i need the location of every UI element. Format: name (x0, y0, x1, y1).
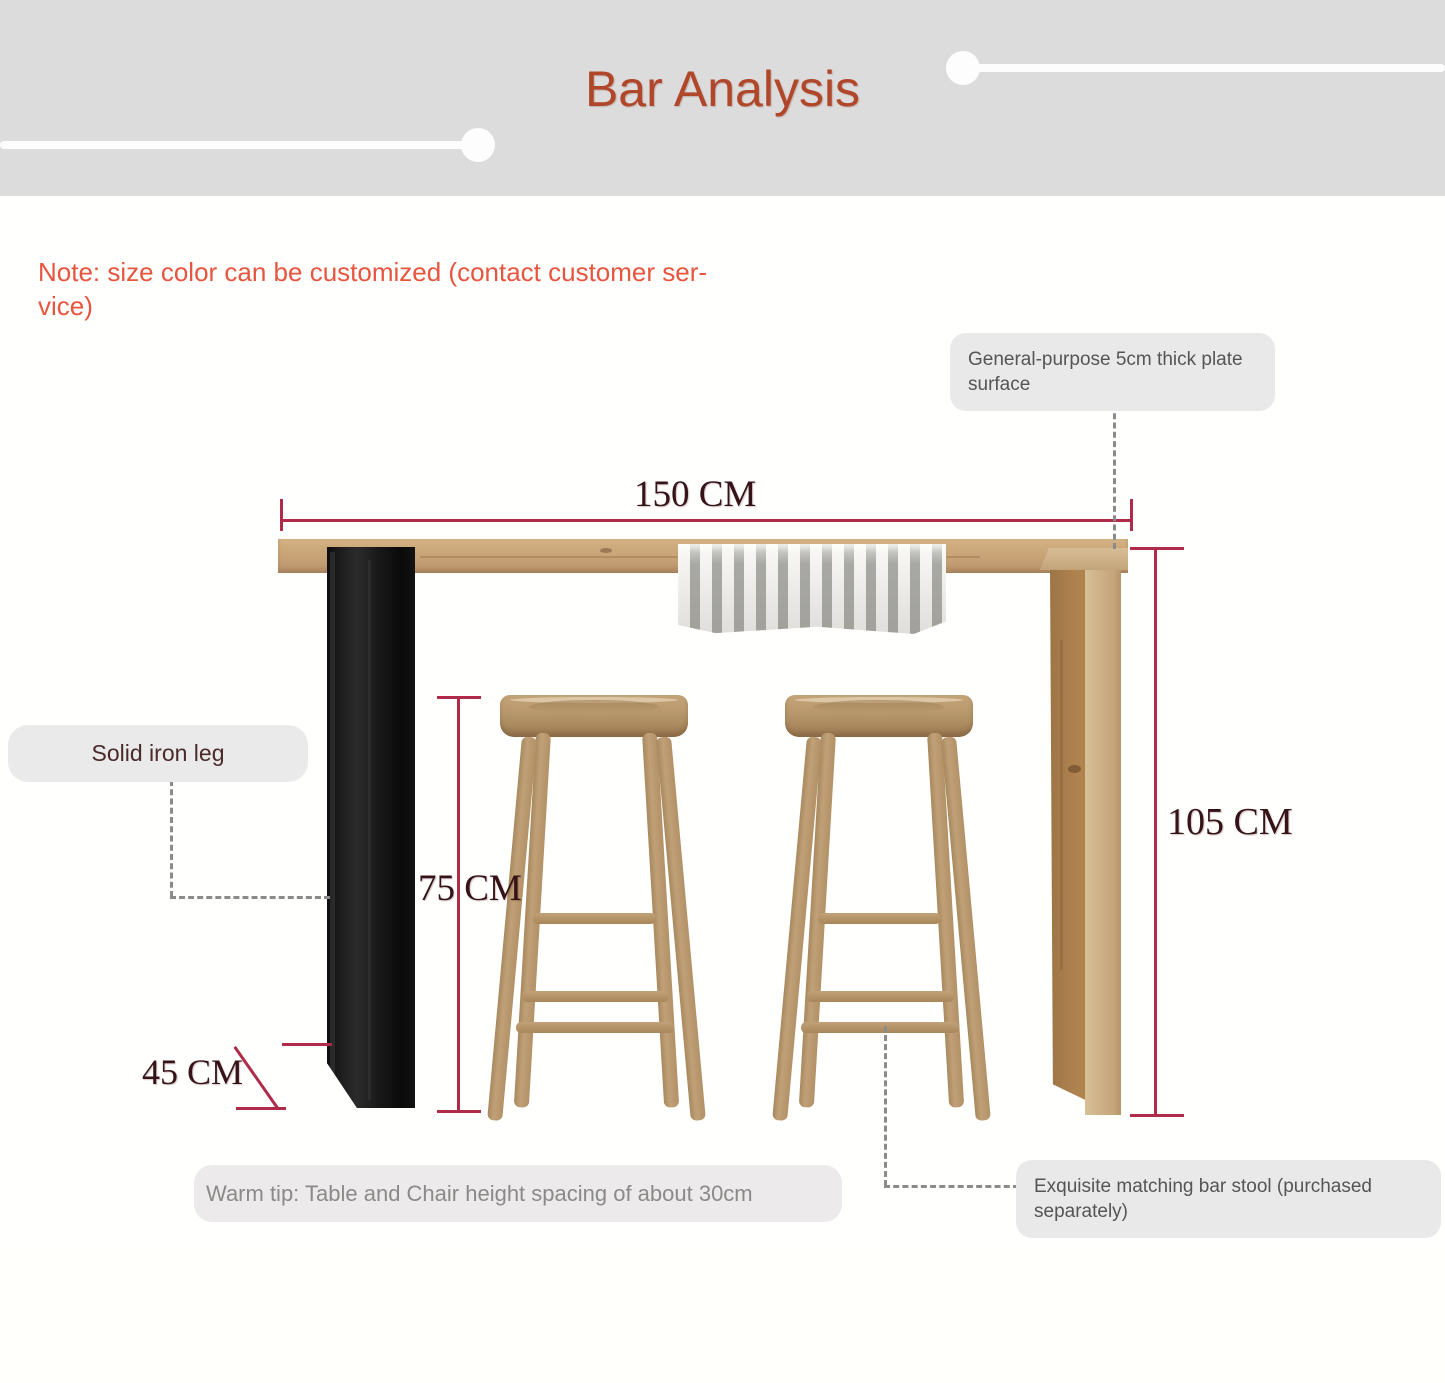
page-header-banner: Bar Analysis (0, 0, 1445, 196)
wood-leg-top-joint (1040, 548, 1128, 570)
leader-line-bar-stool-horizontal (884, 1185, 1019, 1188)
callout-bar-stool: Exquisite matching bar stool (purchased … (1016, 1160, 1441, 1238)
dimension-cap-table-height-bottom (1130, 1114, 1184, 1117)
header-bottom-accent-dot (461, 128, 495, 162)
page-bottom-whitespace (0, 1250, 1445, 1383)
tabletop-knot (600, 548, 612, 553)
dimension-cap-width-right (1130, 499, 1133, 531)
dimension-cap-stool-height-bottom (437, 1110, 481, 1113)
stool-seat-contour (814, 700, 944, 714)
product-diagram-page: Bar Analysis Note: size color can be cus… (0, 0, 1445, 1383)
leader-line-iron-leg-vertical (170, 780, 173, 897)
dimension-label-depth: 45 CM (142, 1051, 243, 1093)
dimension-line-table-height (1154, 548, 1157, 1116)
iron-leg-highlight (330, 552, 335, 1082)
stool-stretcher-middle (522, 991, 669, 1002)
stool-stretcher-lower (801, 1022, 959, 1033)
iron-leg-edge-highlight (368, 560, 371, 1100)
wood-leg-front-face (1085, 547, 1121, 1115)
stool-seat (500, 695, 688, 737)
leader-line-plate-surface (1113, 404, 1116, 549)
wood-leg-grain-line (1060, 640, 1063, 970)
dimension-line-width (280, 519, 1133, 522)
iron-leg (327, 547, 415, 1108)
wood-leg-knot (1068, 765, 1081, 773)
leader-line-iron-leg-horizontal (170, 896, 330, 899)
customization-note: Note: size color can be customized (cont… (38, 255, 748, 323)
stool-stretcher-upper (533, 913, 656, 924)
header-bottom-accent-line (0, 141, 470, 149)
stool-stretcher-lower (516, 1022, 674, 1033)
dimension-label-width: 150 CM (634, 473, 756, 516)
callout-warm-tip: Warm tip: Table and Chair height spacing… (194, 1165, 842, 1222)
callout-plate-surface: General-purpose 5cm thick plate surface (950, 333, 1275, 411)
striped-table-runner-shading (678, 544, 946, 634)
dimension-label-table-height: 105 CM (1167, 800, 1293, 844)
callout-solid-iron-leg: Solid iron leg (8, 725, 308, 782)
dimension-cap-depth-top (282, 1043, 332, 1046)
page-title: Bar Analysis (0, 60, 1445, 118)
dimension-cap-width-left (280, 499, 283, 531)
stool-stretcher-upper (818, 913, 941, 924)
stool-seat (785, 695, 973, 737)
dimension-cap-table-height-top (1130, 547, 1184, 550)
leader-line-bar-stool-vertical (884, 1026, 887, 1186)
dimension-label-stool-height: 75 CM (418, 867, 522, 910)
dimension-cap-stool-height-top (437, 696, 481, 699)
stool-stretcher-middle (807, 991, 954, 1002)
stool-seat-contour (529, 700, 659, 714)
